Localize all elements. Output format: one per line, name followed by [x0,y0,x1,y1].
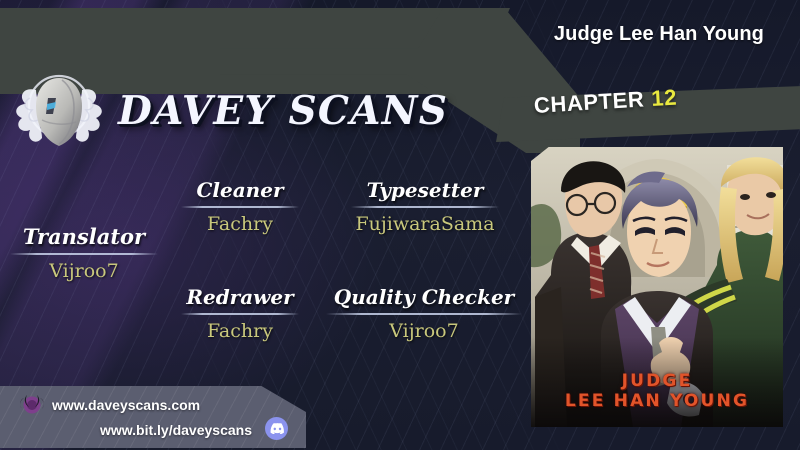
credit-divider [10,253,158,255]
cover-artwork: JUDGE LEE HAN YOUNG [531,147,783,427]
cover-title-line-1: JUDGE [531,371,783,391]
cover-title-line-2: LEE HAN YOUNG [531,391,783,411]
chapter-credits-banner: Judge Lee Han Young CHAPTER12 [0,0,800,450]
credit-name-value: Vijroo7 [0,260,168,282]
credit-name-value: Fachry [150,213,330,235]
credit-divider [181,206,299,208]
credit-name-value: Vijroo7 [318,320,530,342]
discord-icon [269,423,284,434]
credit-role-label: Quality Checker [318,285,530,309]
credit-divider [181,313,299,315]
credit-role-label: Redrawer [150,285,330,309]
credit-redrawer: Redrawer Fachry [150,285,330,342]
credit-quality-checker: Quality Checker Vijroo7 [318,285,530,342]
credit-divider [326,313,522,315]
cover-title: JUDGE LEE HAN YOUNG [531,371,783,411]
brand-wordmark: DAVEY SCANS [118,88,448,134]
credit-translator: Translator Vijroo7 [0,224,168,282]
credit-cleaner: Cleaner Fachry [150,178,330,235]
website-link[interactable]: www.daveyscans.com [52,397,200,413]
discord-link[interactable] [265,417,288,440]
davey-scans-mini-logo-icon [18,392,46,418]
credit-divider [351,206,499,208]
credit-name-value: Fachry [150,320,330,342]
chapter-word: CHAPTER [533,86,645,118]
credit-role-label: Cleaner [150,178,330,202]
credit-role-label: Typesetter [330,178,520,202]
shortlink-link[interactable]: www.bit.ly/daveyscans [100,422,252,438]
chapter-number: 12 [651,85,678,111]
credit-role-label: Translator [0,224,168,249]
credit-name-value: FujiwaraSama [330,213,520,235]
davey-scans-knight-logo-icon [6,54,112,164]
series-title: Judge Lee Han Young [554,23,764,46]
credit-typesetter: Typesetter FujiwaraSama [330,178,520,235]
